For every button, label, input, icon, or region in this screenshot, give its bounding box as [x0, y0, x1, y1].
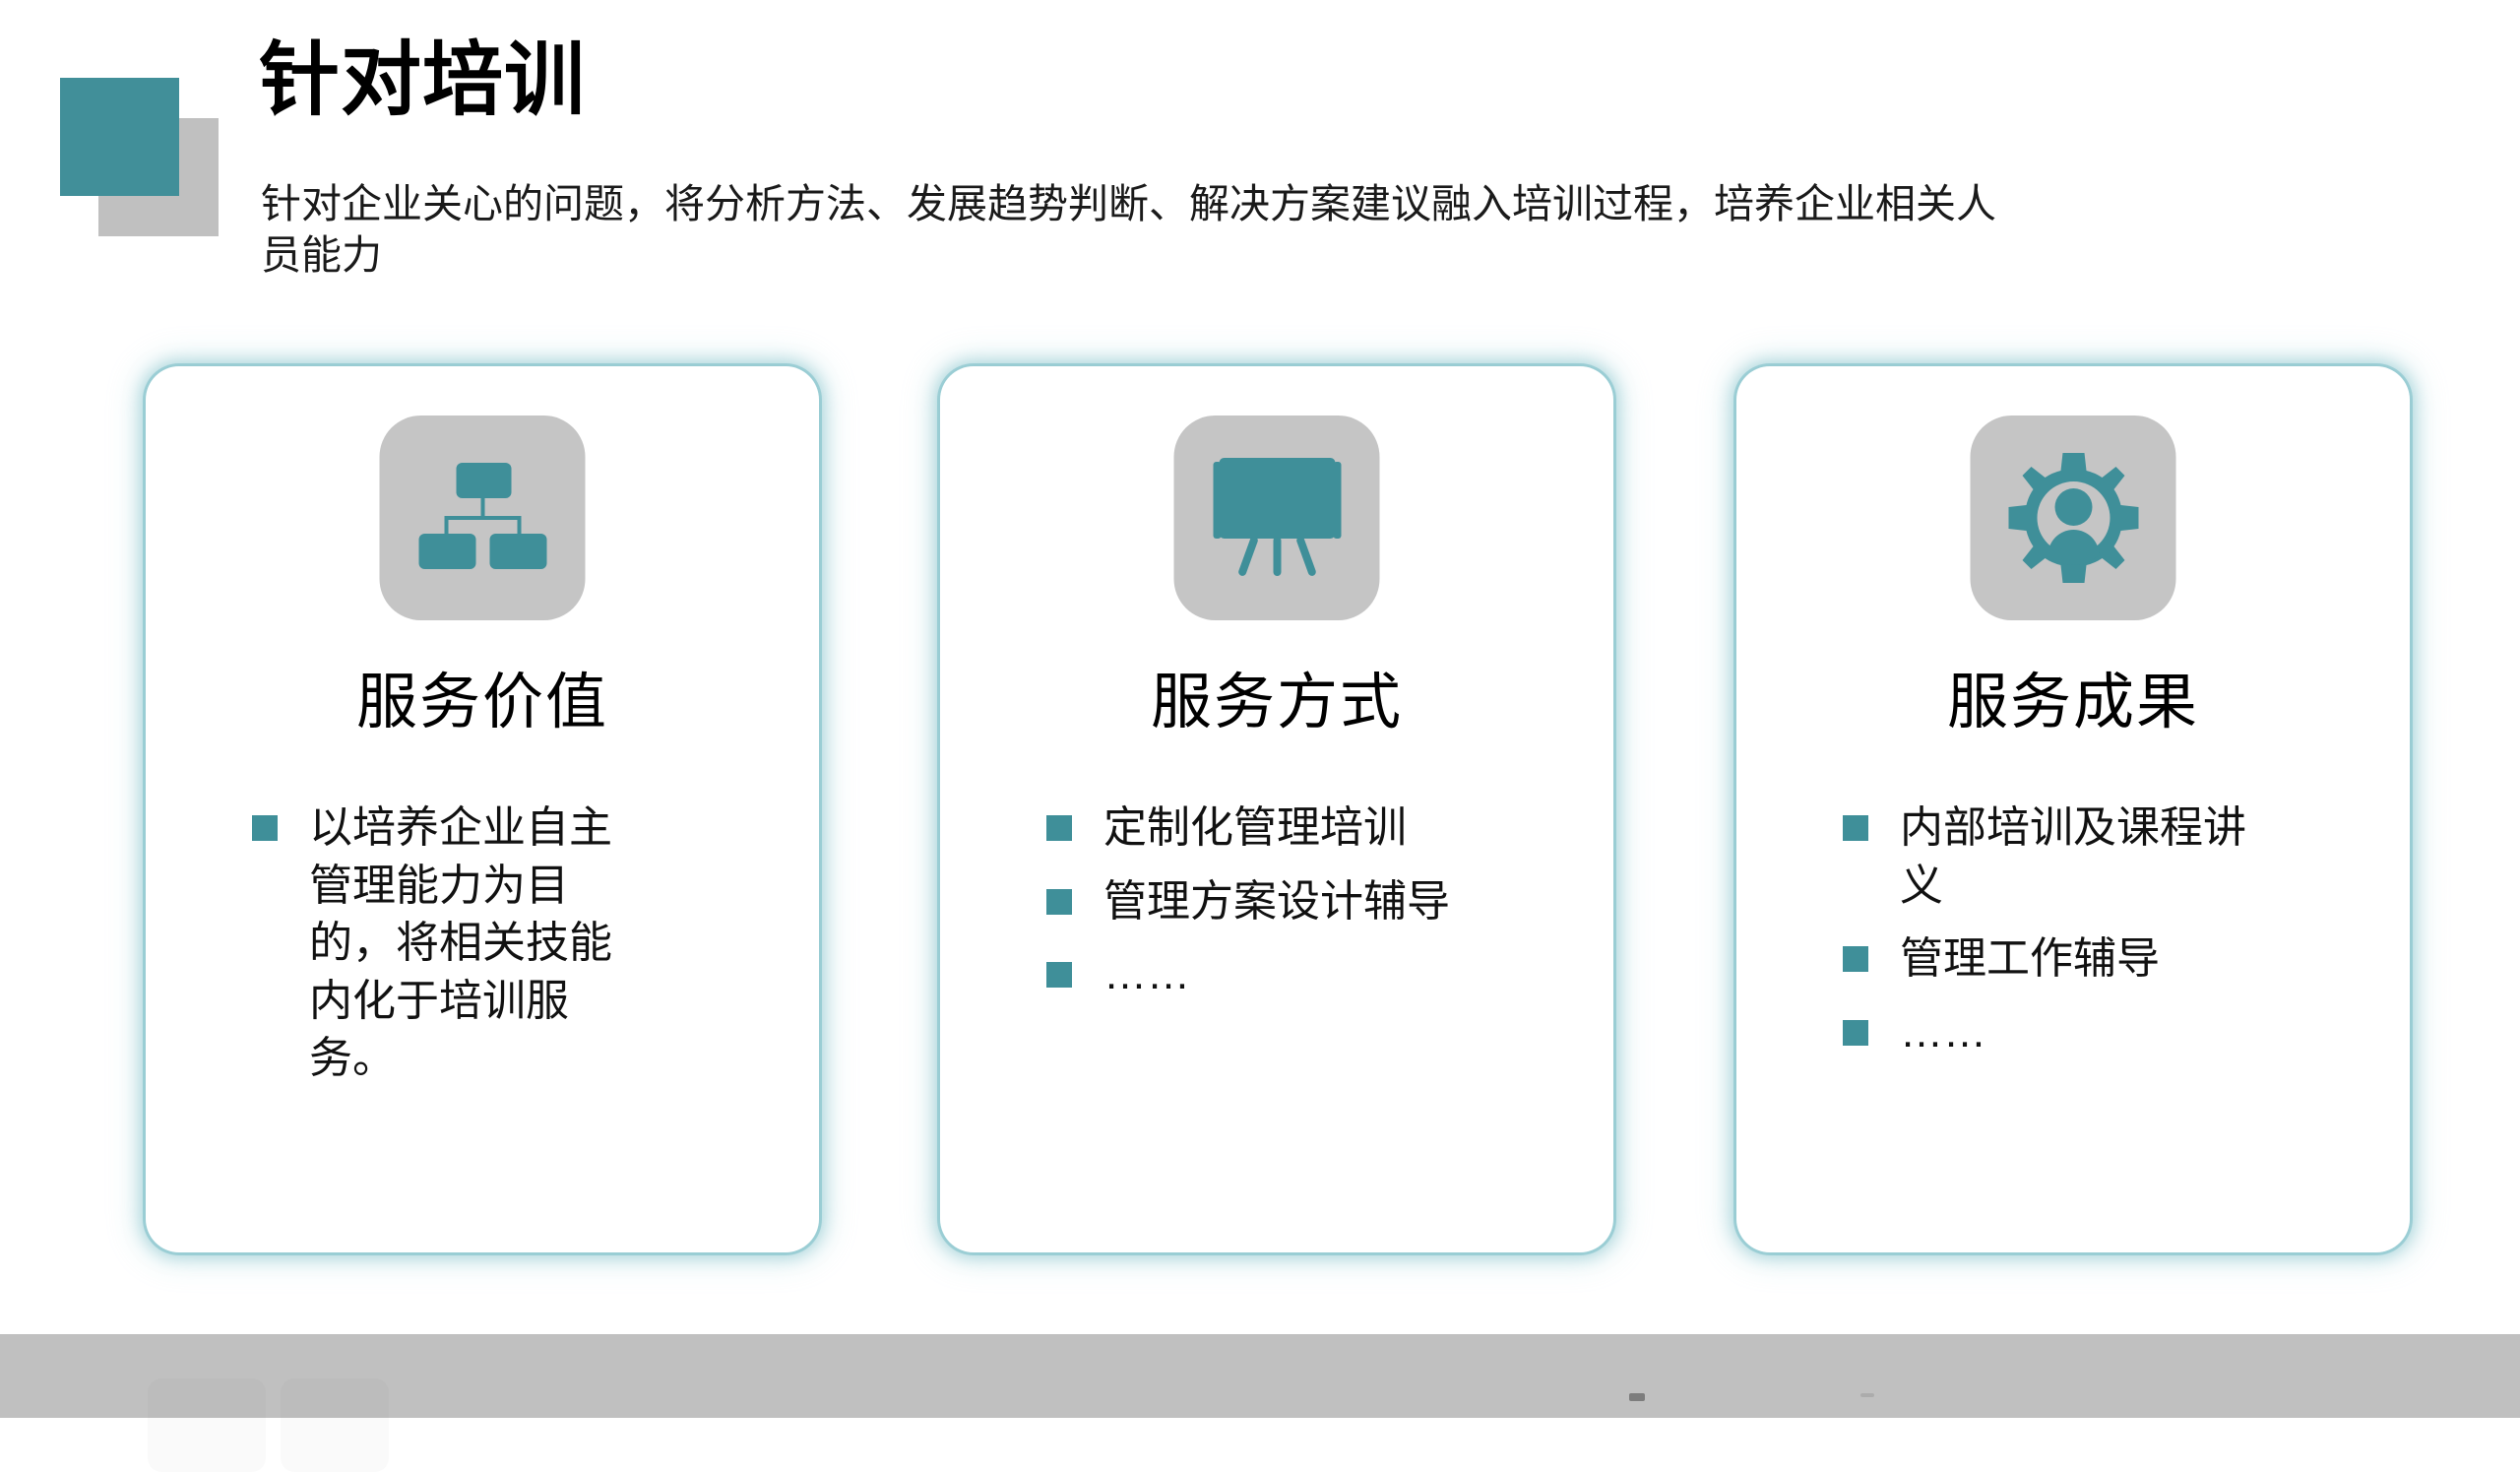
list-item-text: 以培养企业自主管理能力为目的，将相关技能内化于培训服务。	[309, 800, 646, 1088]
decorative-teal-square	[60, 78, 179, 196]
bottom-bar-ghost-mark	[1860, 1393, 1874, 1397]
card-service-outcome[interactable]: 服务成果 内部培训及课程讲义 管理工作辅导 ……	[1736, 366, 2410, 1252]
bottom-bar-ghost-shape	[281, 1378, 389, 1472]
page-subtitle-line-1: 针对企业关心的问题，将分析方法、发展趋势判断、解决方案建议融入培训过程，培养企业…	[261, 178, 2348, 229]
page-subtitle: 针对企业关心的问题，将分析方法、发展趋势判断、解决方案建议融入培训过程，培养企业…	[261, 178, 2348, 282]
list-item: 管理工作辅导	[1843, 930, 2276, 989]
bullet-square-icon	[1046, 889, 1072, 915]
card-bullet-list: 以培养企业自主管理能力为目的，将相关技能内化于培训服务。	[252, 800, 646, 1104]
list-item: 管理方案设计辅导	[1046, 873, 1509, 931]
list-item-text: ……	[1900, 1004, 1986, 1062]
bullet-square-icon	[1843, 815, 1868, 841]
list-item: 定制化管理培训	[1046, 800, 1509, 858]
presentation-board-icon	[1174, 416, 1380, 620]
slide-canvas: 针对培训 针对企业关心的问题，将分析方法、发展趋势判断、解决方案建议融入培训过程…	[0, 0, 2520, 1418]
bullet-square-icon	[1046, 962, 1072, 988]
list-item: 以培养企业自主管理能力为目的，将相关技能内化于培训服务。	[252, 800, 646, 1088]
gear-person-icon	[1971, 416, 2176, 620]
bullet-square-icon	[252, 815, 278, 841]
card-heading: 服务价值	[146, 652, 819, 740]
list-item-text: 内部培训及课程讲义	[1900, 800, 2276, 915]
bottom-bar-ghost-shape	[148, 1378, 266, 1472]
list-item: 内部培训及课程讲义	[1843, 800, 2276, 915]
list-item-text: 管理工作辅导	[1900, 930, 2160, 989]
card-bullet-list: 内部培训及课程讲义 管理工作辅导 ……	[1843, 800, 2276, 1077]
list-item-text: 定制化管理培训	[1103, 800, 1407, 858]
bullet-square-icon	[1843, 1020, 1868, 1046]
card-heading: 服务成果	[1736, 652, 2410, 740]
list-item: ……	[1046, 946, 1509, 1004]
bullet-square-icon	[1046, 815, 1072, 841]
card-heading: 服务方式	[940, 652, 1613, 740]
page-title: 针对培训	[259, 37, 586, 125]
list-item-text: 管理方案设计辅导	[1103, 873, 1450, 931]
org-chart-icon	[380, 416, 586, 620]
bullet-square-icon	[1843, 946, 1868, 972]
list-item-text: ……	[1103, 946, 1190, 1004]
card-service-method[interactable]: 服务方式 定制化管理培训 管理方案设计辅导 ……	[940, 366, 1613, 1252]
card-bullet-list: 定制化管理培训 管理方案设计辅导 ……	[1046, 800, 1509, 1020]
page-subtitle-line-2: 员能力	[261, 229, 2348, 281]
list-item: ……	[1843, 1004, 2276, 1062]
card-service-value[interactable]: 服务价值 以培养企业自主管理能力为目的，将相关技能内化于培训服务。	[146, 366, 819, 1252]
card-row: 服务价值 以培养企业自主管理能力为目的，将相关技能内化于培训服务。	[0, 366, 2520, 1272]
bottom-bar-ghost-mark	[1629, 1393, 1645, 1401]
